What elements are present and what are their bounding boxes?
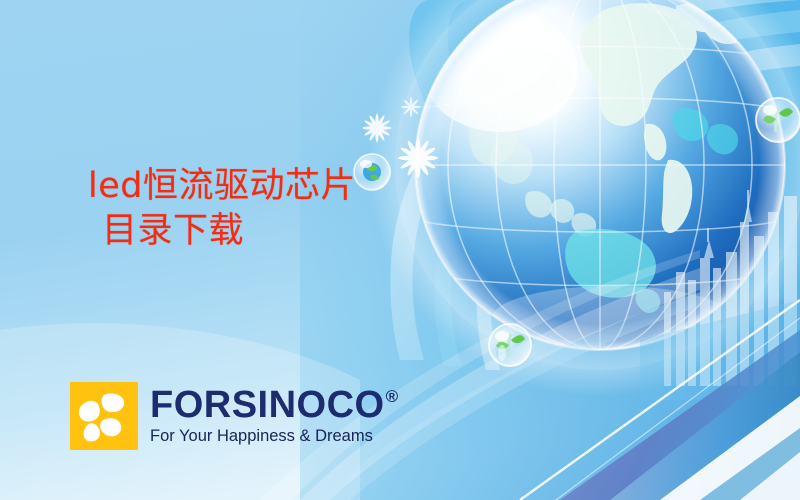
headline-line-1: led恒流驱动芯片	[88, 166, 356, 207]
bubble-globe-small	[354, 154, 390, 190]
logo-wordmark: FORSINOCO®	[150, 386, 399, 424]
bubble-sprout	[489, 324, 531, 366]
company-logo[interactable]: FORSINOCO® For Your Happiness & Dreams	[70, 382, 399, 450]
banner-canvas: led恒流驱动芯片 目录下载 FORSINOCO® For Your Happi…	[0, 0, 800, 500]
registered-trademark-icon: ®	[386, 388, 399, 405]
headline: led恒流驱动芯片 目录下载	[88, 166, 356, 253]
bubble-leaf-top-right	[756, 98, 800, 142]
headline-line-2: 目录下载	[102, 211, 356, 252]
logo-tagline: For Your Happiness & Dreams	[150, 427, 399, 445]
logo-wordmark-text: FORSINOCO	[150, 386, 385, 424]
sparkle-burst-small	[401, 97, 421, 117]
forsinoco-pinwheel-icon	[70, 382, 138, 450]
logo-text-block: FORSINOCO® For Your Happiness & Dreams	[150, 386, 399, 445]
